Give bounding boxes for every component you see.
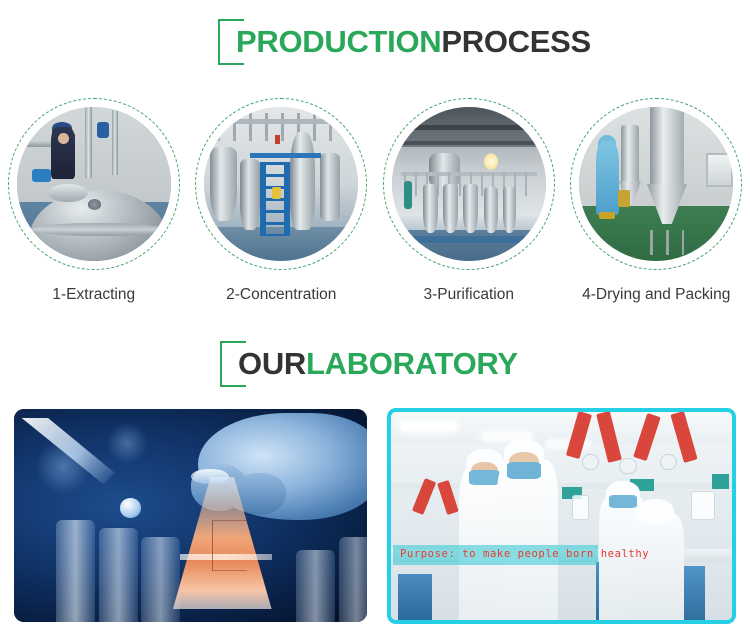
production-process-page: PRODUCTION PROCESS [0,0,750,642]
process-step-4-photo [579,107,733,261]
process-step-3[interactable]: 3-Purification [375,98,563,313]
process-step-4[interactable]: 4-Drying and Packing [563,98,750,313]
process-step-1[interactable]: 1-Extracting [0,98,188,313]
process-step-4-label: 4-Drying and Packing [582,286,730,304]
process-step-2[interactable]: 2-Concentration [188,98,376,313]
process-step-1-label: 1-Extracting [52,286,135,304]
section-title-rest: PROCESS [441,19,591,65]
process-step-1-circle [8,98,180,270]
section-title-highlight: PRODUCTION [236,19,441,65]
section-title-our-laboratory: OUR LABORATORY [220,340,518,388]
process-step-3-label: 3-Purification [424,286,514,304]
process-step-3-photo [392,107,546,261]
process-step-2-circle [195,98,367,270]
concentration-scene [204,107,358,261]
lab-photo-right[interactable]: Purpose: to make people born healthy [387,408,736,624]
lab-photo-right-scene: Purpose: to make people born healthy [391,412,732,620]
process-step-2-photo [204,107,358,261]
purpose-overlay-text: Purpose: to make people born healthy [400,548,649,560]
extracting-scene [17,107,171,261]
purification-scene [392,107,546,261]
section-title-highlight: OUR [238,341,306,387]
process-step-4-circle [570,98,742,270]
drying-packing-scene [579,107,733,261]
process-steps-row: 1-Extracting [0,98,750,313]
section-title-rest: LABORATORY [306,341,518,387]
section-title-production-process: PRODUCTION PROCESS [218,18,591,66]
lab-photo-left[interactable] [14,409,367,622]
process-step-1-photo [17,107,171,261]
process-step-3-circle [383,98,555,270]
process-step-2-label: 2-Concentration [226,286,336,304]
